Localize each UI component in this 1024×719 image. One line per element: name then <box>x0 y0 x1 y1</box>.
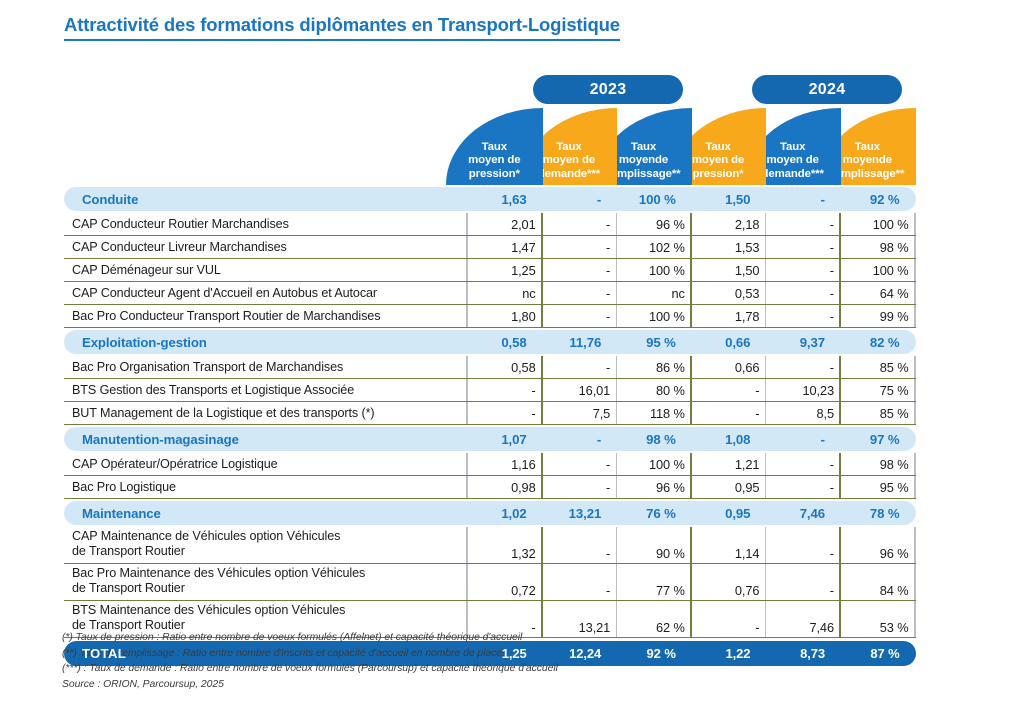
cell-value-6: 95 % <box>841 476 916 498</box>
cell-value-2: - <box>543 527 618 563</box>
cell-value-3: 76 % <box>617 501 692 525</box>
cell-value-6: 82 % <box>841 330 916 354</box>
cell-value-5: - <box>766 213 841 235</box>
cell-value-3: 86 % <box>617 356 692 378</box>
row-label: Bac Pro Organisation Transport de Marcha… <box>64 356 468 378</box>
table-row: CAP Conducteur Livreur Marchandises1,47-… <box>64 236 916 259</box>
cell-value-2: 11,76 <box>543 330 618 354</box>
cell-value-5: - <box>766 356 841 378</box>
cell-value-5: - <box>766 564 841 600</box>
row-label: CAP Maintenance de Véhicules option Véhi… <box>64 527 468 563</box>
cell-value-5: - <box>766 427 841 451</box>
cell-value-6: 98 % <box>841 453 916 475</box>
cell-value-4: - <box>692 379 767 401</box>
cell-value-4: 0,76 <box>692 564 767 600</box>
section-title: Manutention-magasinage <box>64 427 468 451</box>
cell-value-3: 100 % <box>617 259 692 281</box>
cell-value-4: 1,22 <box>692 641 767 666</box>
cell-value-6: 75 % <box>841 379 916 401</box>
row-label: BTS Gestion des Transports et Logistique… <box>64 379 468 401</box>
cell-value-1: 1,16 <box>468 453 543 475</box>
cell-value-4: 1,50 <box>692 259 767 281</box>
cell-value-1: 1,25 <box>468 259 543 281</box>
cell-value-1: - <box>468 402 543 424</box>
cell-value-2: - <box>543 427 618 451</box>
cell-value-1: 1,80 <box>468 305 543 327</box>
cell-value-3: 90 % <box>617 527 692 563</box>
row-label: BUT Management de la Logistique et des t… <box>64 402 468 424</box>
table-row: BUT Management de la Logistique et des t… <box>64 402 916 425</box>
year-pill-2023: 2023 <box>533 75 683 104</box>
cell-value-5: 10,23 <box>766 379 841 401</box>
cell-value-5: 7,46 <box>766 601 841 637</box>
cell-value-4: 0,66 <box>692 330 767 354</box>
table-row: CAP Maintenance de Véhicules option Véhi… <box>64 527 916 564</box>
cell-value-5: - <box>766 453 841 475</box>
row-label: Bac Pro Maintenance des Véhicules option… <box>64 564 468 600</box>
cell-value-1: 0,98 <box>468 476 543 498</box>
cell-value-4: - <box>692 402 767 424</box>
cell-value-5: 8,5 <box>766 402 841 424</box>
cell-value-3: 96 % <box>617 476 692 498</box>
cell-value-2: - <box>543 259 618 281</box>
cell-value-1: 2,01 <box>468 213 543 235</box>
section-title: Conduite <box>64 187 468 211</box>
cell-value-5: - <box>766 527 841 563</box>
cell-value-5: - <box>766 282 841 304</box>
cell-value-6: 98 % <box>841 236 916 258</box>
cell-value-5: - <box>766 305 841 327</box>
row-label: CAP Conducteur Livreur Marchandises <box>64 236 468 258</box>
cell-value-3: 77 % <box>617 564 692 600</box>
cell-value-6: 78 % <box>841 501 916 525</box>
cell-value-1: 1,25 <box>468 641 543 666</box>
table-row: CAP Déménageur sur VUL1,25-100 %1,50-100… <box>64 259 916 282</box>
cell-value-5: - <box>766 236 841 258</box>
cell-value-4: 0,95 <box>692 501 767 525</box>
cell-value-2: - <box>543 187 618 211</box>
cell-value-5: - <box>766 187 841 211</box>
cell-value-4: 1,08 <box>692 427 767 451</box>
cell-value-6: 85 % <box>841 356 916 378</box>
section-header-row: Maintenance1,0213,2176 %0,957,4678 % <box>64 501 916 525</box>
table-row: CAP Conducteur Agent d'Accueil en Autobu… <box>64 282 916 305</box>
total-row: TOTAL1,2512,2492 %1,228,7387 % <box>64 641 916 666</box>
cell-value-4: 0,66 <box>692 356 767 378</box>
row-label: CAP Opérateur/Opératrice Logistique <box>64 453 468 475</box>
cell-value-6: 53 % <box>841 601 916 637</box>
section-title: Exploitation-gestion <box>64 330 468 354</box>
cell-value-5: 7,46 <box>766 501 841 525</box>
table-row: Bac Pro Logistique0,98-96 %0,95-95 % <box>64 476 916 499</box>
table-row: CAP Opérateur/Opératrice Logistique1,16-… <box>64 453 916 476</box>
cell-value-4: 0,53 <box>692 282 767 304</box>
cell-value-2: 7,5 <box>543 402 618 424</box>
cell-value-1: - <box>468 379 543 401</box>
cell-value-3: nc <box>617 282 692 304</box>
cell-value-3: 80 % <box>617 379 692 401</box>
cell-value-3: 98 % <box>617 427 692 451</box>
cell-value-2: 13,21 <box>543 501 618 525</box>
column-header-label: Taux moyen de pression* <box>446 141 543 181</box>
cell-value-5: - <box>766 476 841 498</box>
row-label: CAP Conducteur Agent d'Accueil en Autobu… <box>64 282 468 304</box>
section-header-row: Manutention-magasinage1,07-98 %1,08-97 % <box>64 427 916 451</box>
cell-value-2: 12,24 <box>543 641 618 666</box>
cell-value-3: 100 % <box>617 453 692 475</box>
cell-value-6: 99 % <box>841 305 916 327</box>
cell-value-1: 0,58 <box>468 356 543 378</box>
cell-value-6: 100 % <box>841 213 916 235</box>
cell-value-1: 1,32 <box>468 527 543 563</box>
cell-value-6: 100 % <box>841 259 916 281</box>
cell-value-2: - <box>543 282 618 304</box>
cell-value-3: 102 % <box>617 236 692 258</box>
table-row: Bac Pro Maintenance des Véhicules option… <box>64 564 916 601</box>
cell-value-5: 8,73 <box>766 641 841 666</box>
cell-value-1: 1,07 <box>468 427 543 451</box>
table-row: CAP Conducteur Routier Marchandises2,01-… <box>64 213 916 236</box>
cell-value-4: 1,50 <box>692 187 767 211</box>
cell-value-4: - <box>692 601 767 637</box>
cell-value-3: 95 % <box>617 330 692 354</box>
total-label: TOTAL <box>64 641 468 666</box>
cell-value-6: 85 % <box>841 402 916 424</box>
cell-value-4: 1,78 <box>692 305 767 327</box>
cell-value-1: 1,47 <box>468 236 543 258</box>
section-title: Maintenance <box>64 501 468 525</box>
cell-value-2: 16,01 <box>543 379 618 401</box>
cell-value-3: 100 % <box>617 187 692 211</box>
row-label: Bac Pro Conducteur Transport Routier de … <box>64 305 468 327</box>
cell-value-4: 1,14 <box>692 527 767 563</box>
cell-value-2: - <box>543 356 618 378</box>
cell-value-6: 84 % <box>841 564 916 600</box>
cell-value-4: 1,53 <box>692 236 767 258</box>
cell-value-2: - <box>543 564 618 600</box>
cell-value-4: 1,21 <box>692 453 767 475</box>
section-header-row: Exploitation-gestion0,5811,7695 %0,669,3… <box>64 330 916 354</box>
cell-value-3: 92 % <box>617 641 692 666</box>
cell-value-3: 118 % <box>617 402 692 424</box>
cell-value-2: - <box>543 236 618 258</box>
cell-value-4: 0,95 <box>692 476 767 498</box>
cell-value-1: 0,72 <box>468 564 543 600</box>
cell-value-6: 96 % <box>841 527 916 563</box>
row-label: CAP Conducteur Routier Marchandises <box>64 213 468 235</box>
cell-value-6: 92 % <box>841 187 916 211</box>
cell-value-3: 100 % <box>617 305 692 327</box>
table-row: Bac Pro Conducteur Transport Routier de … <box>64 305 916 328</box>
table-row: Bac Pro Organisation Transport de Marcha… <box>64 356 916 379</box>
cell-value-6: 97 % <box>841 427 916 451</box>
cell-value-5: 9,37 <box>766 330 841 354</box>
footnote-4: Source : ORION, Parcoursup, 2025 <box>62 677 558 693</box>
cell-value-5: - <box>766 259 841 281</box>
cell-value-4: 2,18 <box>692 213 767 235</box>
cell-value-6: 87 % <box>841 641 916 666</box>
attractiveness-table: Conduite1,63-100 %1,50-92 %CAP Conducteu… <box>64 185 916 666</box>
cell-value-3: 96 % <box>617 213 692 235</box>
column-headers: Taux moyen de pression*Taux moyen de dem… <box>468 108 916 185</box>
cell-value-1: 1,63 <box>468 187 543 211</box>
row-label: Bac Pro Logistique <box>64 476 468 498</box>
cell-value-2: - <box>543 476 618 498</box>
cell-value-2: - <box>543 305 618 327</box>
column-header-1: Taux moyen de pression* <box>446 108 543 185</box>
section-header-row: Conduite1,63-100 %1,50-92 % <box>64 187 916 211</box>
cell-value-1: nc <box>468 282 543 304</box>
cell-value-6: 64 % <box>841 282 916 304</box>
cell-value-2: - <box>543 453 618 475</box>
cell-value-2: - <box>543 213 618 235</box>
cell-value-1: 1,02 <box>468 501 543 525</box>
row-label: CAP Déménageur sur VUL <box>64 259 468 281</box>
cell-value-1: 0,58 <box>468 330 543 354</box>
page-title: Attractivité des formations diplômantes … <box>64 14 620 41</box>
cell-value-3: 62 % <box>617 601 692 637</box>
table-row: BTS Gestion des Transports et Logistique… <box>64 379 916 402</box>
year-pill-2024: 2024 <box>752 75 902 104</box>
